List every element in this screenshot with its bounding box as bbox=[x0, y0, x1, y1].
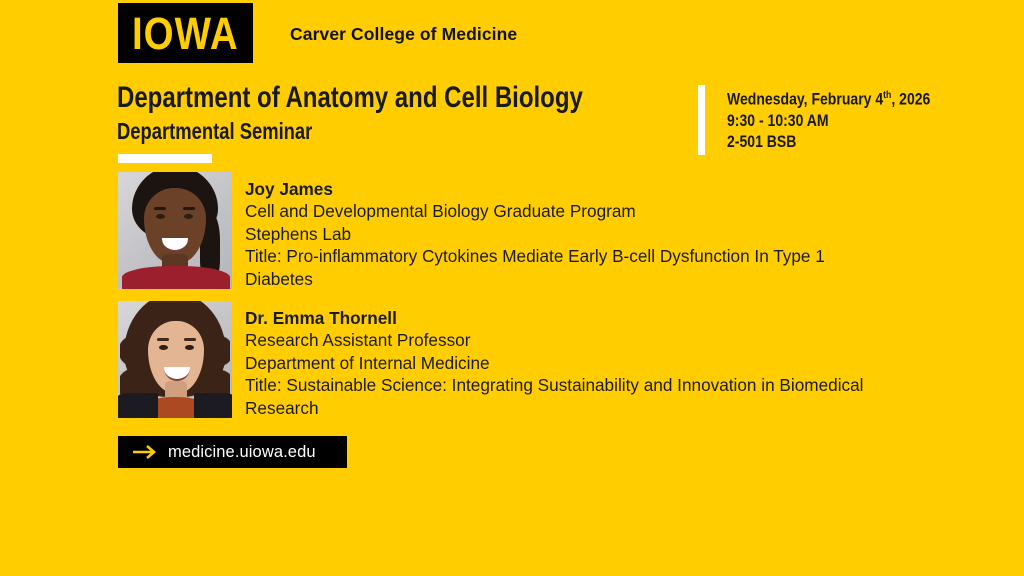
seminar-subtitle: Departmental Seminar bbox=[117, 119, 312, 143]
headshot-brow-right bbox=[183, 207, 195, 210]
speaker-name: Joy James bbox=[245, 178, 893, 200]
website-cta-button[interactable]: medicine.uiowa.edu bbox=[118, 436, 347, 468]
website-cta-label: medicine.uiowa.edu bbox=[168, 443, 316, 462]
headshot-brow-left bbox=[154, 207, 166, 210]
speaker-lab: Stephens Lab bbox=[245, 223, 893, 245]
speaker-talk-title: Title: Pro-inflammatory Cytokines Mediat… bbox=[245, 245, 893, 290]
speaker-headshot bbox=[118, 301, 232, 418]
college-name: Carver College of Medicine bbox=[290, 24, 517, 45]
speaker-affiliation: Research Assistant Professor bbox=[245, 329, 893, 351]
title-underline-rule bbox=[118, 154, 212, 163]
speaker-headshot bbox=[118, 172, 232, 289]
event-date: Wednesday, February 4th, 2026 bbox=[727, 85, 930, 111]
headshot-jacket-left bbox=[118, 393, 158, 418]
speaker-name: Dr. Emma Thornell bbox=[245, 307, 893, 329]
event-time: 9:30 - 10:30 AM bbox=[727, 111, 930, 132]
headshot-eye-right bbox=[184, 214, 193, 219]
speaker-affiliation: Cell and Developmental Biology Graduate … bbox=[245, 200, 893, 222]
speaker-details: Joy James Cell and Developmental Biology… bbox=[245, 178, 893, 290]
headshot-eye-left bbox=[156, 214, 165, 219]
department-title: Department of Anatomy and Cell Biology bbox=[117, 82, 583, 114]
iowa-wordmark: IOWA bbox=[132, 10, 239, 55]
speaker-details: Dr. Emma Thornell Research Assistant Pro… bbox=[245, 307, 893, 419]
arrow-right-icon bbox=[132, 444, 158, 460]
event-meta: Wednesday, February 4th, 2026 9:30 - 10:… bbox=[727, 85, 930, 153]
iowa-logo: IOWA bbox=[118, 3, 253, 63]
headshot-eye-right bbox=[185, 345, 194, 350]
event-location: 2-501 BSB bbox=[727, 132, 930, 153]
headshot-brow-right bbox=[184, 338, 196, 341]
speaker-lab: Department of Internal Medicine bbox=[245, 352, 893, 374]
event-date-prefix: Wednesday, February 4 bbox=[727, 91, 883, 109]
headshot-jacket-right bbox=[194, 393, 232, 418]
speaker-talk-title: Title: Sustainable Science: Integrating … bbox=[245, 374, 893, 419]
headshot-torso bbox=[122, 266, 230, 289]
headshot-brow-left bbox=[157, 338, 169, 341]
event-date-suffix: , 2026 bbox=[891, 91, 930, 109]
headshot-eye-left bbox=[159, 345, 168, 350]
event-meta-rule bbox=[698, 85, 705, 155]
